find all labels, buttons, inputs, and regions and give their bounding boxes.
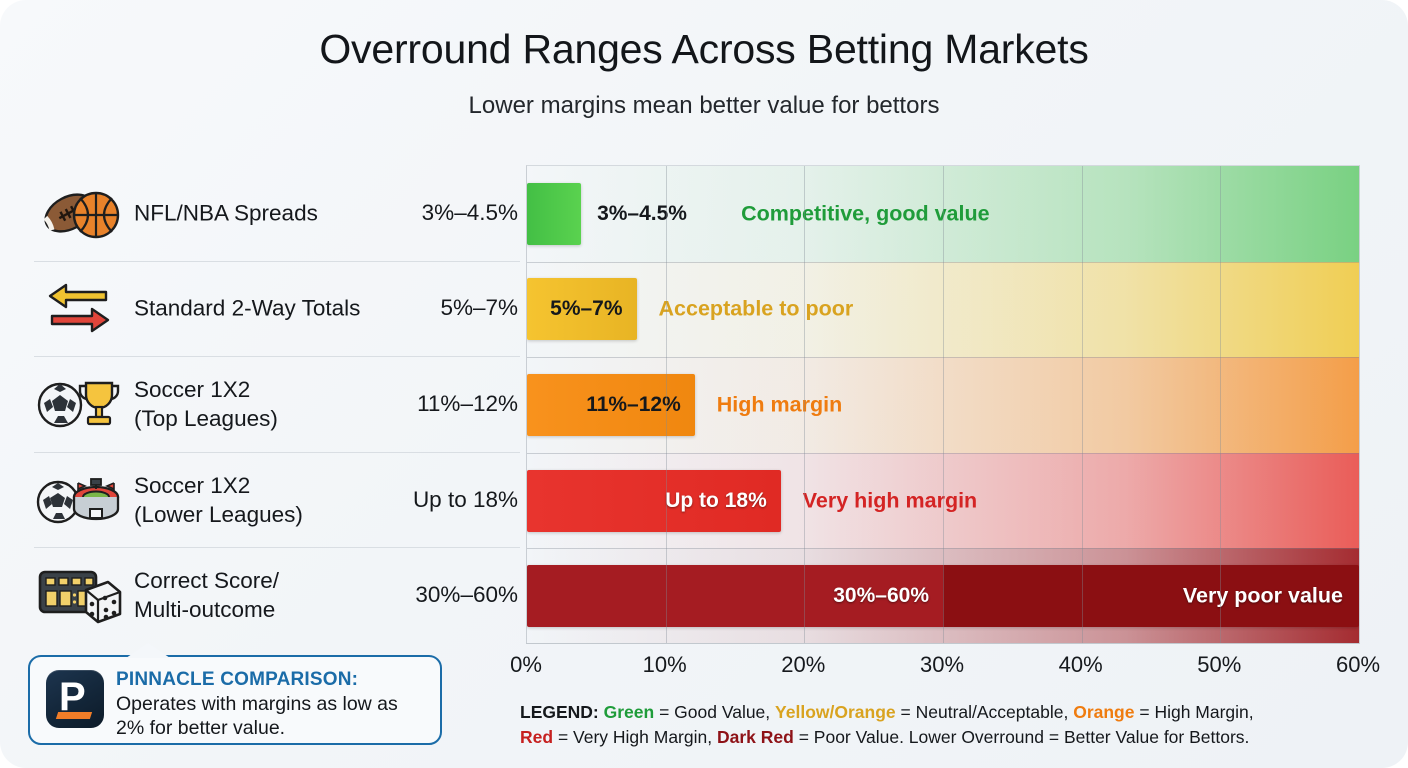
market-label-line2: Multi-outcome [134, 595, 374, 624]
legend-darkred-def: = Poor Value. Lower Overround = Better V… [799, 727, 1250, 747]
legend: LEGEND: Green = Good Value, Yellow/Orang… [520, 700, 1390, 750]
value-bar: 3%–4.5% [527, 183, 581, 245]
callout-body: Operates with margins as low as 2% for b… [116, 692, 426, 740]
value-bar: 30%–60%Very poor value [527, 565, 1359, 627]
x-axis-tick-label: 0% [510, 652, 542, 678]
legend-orange-def: = High Margin, [1139, 702, 1253, 722]
value-bar: Up to 18% [527, 470, 781, 532]
legend-red-key: Red [520, 727, 553, 747]
bar-value-label: Up to 18% [665, 489, 767, 513]
x-axis-tick-label: 30% [920, 652, 964, 678]
callout-heading: PINNACLE COMPARISON: [116, 669, 358, 691]
infographic-card: Overround Ranges Across Betting Markets … [0, 0, 1408, 768]
legend-red-def: = Very High Margin, [558, 727, 712, 747]
scoreboard-dice-icon [36, 564, 122, 626]
market-row: NFL/NBA Spreads3%–4.5% [28, 165, 524, 261]
legend-green-key: Green [604, 702, 655, 722]
market-row: Correct Score/Multi-outcome30%–60% [28, 547, 524, 643]
x-axis-tick-label: 60% [1336, 652, 1380, 678]
legend-yellow-key: Yellow/Orange [775, 702, 896, 722]
band-gradient [527, 262, 1359, 358]
soccer-trophy-icon [36, 373, 122, 435]
page-subtitle: Lower margins mean better value for bett… [0, 92, 1408, 120]
page-title: Overround Ranges Across Betting Markets [0, 26, 1408, 73]
market-label-line1: Soccer 1X2 [134, 471, 374, 500]
market-label-line2: (Lower Leagues) [134, 500, 374, 529]
x-axis-tick-label: 10% [643, 652, 687, 678]
row-divider [34, 356, 520, 357]
x-axis-tick-label: 50% [1197, 652, 1241, 678]
bar-note-label: Competitive, good value [741, 201, 989, 226]
chart-row-band: Up to 18%Very high margin [527, 453, 1359, 549]
chart-row-band: 30%–60%Very poor value [527, 548, 1359, 644]
callout-notch [126, 643, 170, 658]
soccer-stadium-icon [36, 469, 122, 531]
bar-note-label: Very high margin [803, 488, 977, 513]
band-divider [527, 548, 1359, 549]
market-row: Standard 2-Way Totals5%–7% [28, 261, 524, 357]
value-bar: 5%–7% [527, 278, 637, 340]
legend-orange-key: Orange [1073, 702, 1134, 722]
bar-value-label: 5%–7% [550, 297, 622, 321]
x-axis-tick-label: 20% [781, 652, 825, 678]
market-label-line1: Correct Score/ [134, 566, 374, 595]
two-way-arrows-icon [36, 277, 122, 339]
band-divider [527, 357, 1359, 358]
pinnacle-logo-icon: P [46, 670, 104, 728]
row-divider [34, 261, 520, 262]
row-divider [34, 452, 520, 453]
chart-row-band: 3%–4.5%Competitive, good value [527, 166, 1359, 262]
bar-note-label: Acceptable to poor [659, 297, 854, 322]
market-label: Correct Score/Multi-outcome [134, 566, 374, 624]
market-row: Soccer 1X2(Top Leagues)11%–12% [28, 356, 524, 452]
bar-value-label: 11%–12% [586, 393, 681, 417]
chart-row-band: 5%–7%Acceptable to poor [527, 262, 1359, 358]
market-label: Soccer 1X2(Lower Leagues) [134, 471, 374, 529]
x-axis-line [526, 643, 1359, 644]
market-label: Soccer 1X2(Top Leagues) [134, 375, 374, 433]
market-label: Standard 2-Way Totals [134, 294, 374, 323]
pinnacle-callout: P PINNACLE COMPARISON: Operates with mar… [28, 655, 442, 745]
market-label: NFL/NBA Spreads [134, 198, 374, 227]
bar-note-label: Very poor value [1183, 584, 1343, 609]
band-divider [527, 453, 1359, 454]
legend-darkred-key: Dark Red [717, 727, 794, 747]
legend-yellow-def: = Neutral/Acceptable, [901, 702, 1069, 722]
market-row: Soccer 1X2(Lower Leagues)Up to 18% [28, 452, 524, 548]
market-range-value: 30%–60% [415, 582, 518, 608]
chart-row-band: 11%–12%High margin [527, 357, 1359, 453]
band-divider [527, 262, 1359, 263]
row-label-column: NFL/NBA Spreads3%–4.5% Standard 2-Way To… [28, 165, 524, 643]
market-label-line2: (Top Leagues) [134, 404, 374, 433]
bar-note-label: High margin [717, 392, 842, 417]
legend-prefix: LEGEND: [520, 702, 599, 722]
pinnacle-logo-bar [56, 712, 92, 719]
x-axis-tick-label: 40% [1059, 652, 1103, 678]
row-divider [34, 547, 520, 548]
bar-value-label: 3%–4.5% [597, 202, 687, 226]
market-range-value: 11%–12% [417, 391, 518, 417]
market-range-value: 5%–7% [440, 295, 518, 321]
legend-green-def: = Good Value, [659, 702, 770, 722]
chart-plot-area: 3%–4.5%Competitive, good value5%–7%Accep… [526, 165, 1360, 644]
football-basketball-icon [36, 182, 122, 244]
value-bar: 11%–12% [527, 374, 695, 436]
market-range-value: Up to 18% [413, 487, 518, 513]
bar-value-label: 30%–60% [833, 584, 929, 608]
market-range-value: 3%–4.5% [422, 200, 518, 226]
market-label-line1: Soccer 1X2 [134, 375, 374, 404]
